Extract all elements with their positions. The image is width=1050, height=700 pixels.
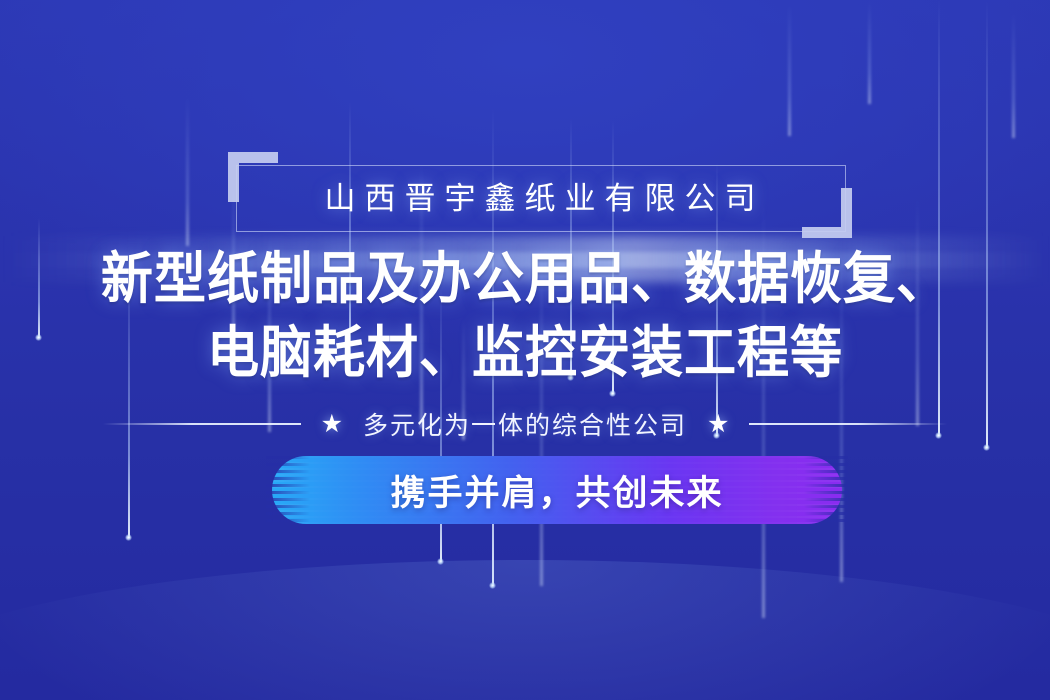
divider-line-right [749,423,947,425]
star-icon-right: ★ [707,412,729,437]
slogan-text: 携手并肩，共创未来 [272,456,842,524]
subtitle-row: ★ 多元化为一体的综合性公司 ★ [0,404,1050,444]
light-streak-icon [788,4,791,136]
subtitle: 多元化为一体的综合性公司 [363,406,687,442]
company-name-frame: 山西晋宇鑫纸业有限公司 [228,152,852,238]
light-streak-icon [186,96,189,246]
bottom-arc-glow [0,560,1050,700]
light-streak-icon [1012,12,1015,138]
divider-line-left [103,423,301,425]
slogan-banner: 携手并肩，共创未来 [272,456,842,524]
star-icon-left: ★ [321,412,343,437]
headline-line-2: 电脑耗材、监控安装工程等 [37,317,1014,391]
headline-line-1: 新型纸制品及办公用品、数据恢复、 [37,243,1014,317]
promo-poster: 山西晋宇鑫纸业有限公司 新型纸制品及办公用品、数据恢复、 电脑耗材、监控安装工程… [0,0,1050,700]
light-streak-icon [868,0,871,104]
company-name: 山西晋宇鑫纸业有限公司 [228,152,852,238]
headline: 新型纸制品及办公用品、数据恢复、 电脑耗材、监控安装工程等 [37,243,1014,391]
